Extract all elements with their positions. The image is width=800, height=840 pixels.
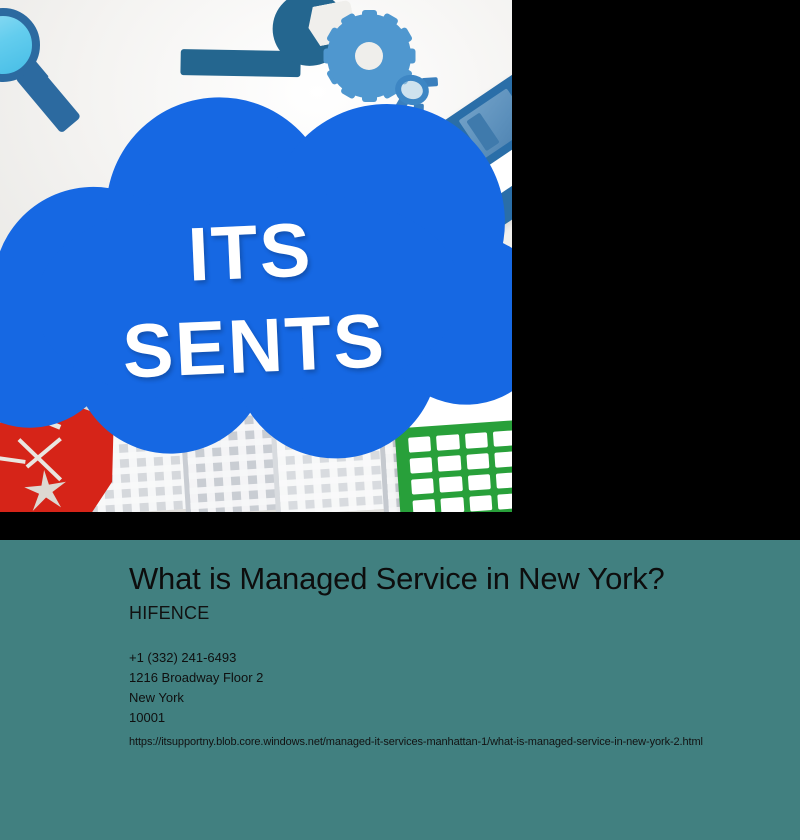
- contact-city: New York: [129, 688, 740, 708]
- page-root: ITS SENTS What is Managed Service in New…: [0, 0, 800, 840]
- calculator-key: [497, 493, 512, 510]
- calculator-key: [469, 495, 492, 512]
- contact-block: +1 (332) 241-6493 1216 Broadway Floor 2 …: [129, 648, 740, 728]
- calculator-key: [441, 497, 464, 512]
- media-letterbox-band: ITS SENTS: [0, 0, 800, 540]
- gear-hole: [355, 42, 383, 70]
- source-url[interactable]: https://itsupportny.blob.core.windows.ne…: [129, 735, 740, 749]
- cloud-shape: ITS SENTS: [0, 83, 512, 510]
- page-title: What is Managed Service in New York?: [129, 562, 740, 597]
- contact-phone[interactable]: +1 (332) 241-6493: [129, 648, 740, 668]
- brand-name: HIFENCE: [129, 603, 740, 624]
- contact-zip: 10001: [129, 708, 740, 728]
- calculator-key: [412, 499, 435, 512]
- info-panel: What is Managed Service in New York? HIF…: [0, 540, 800, 840]
- contact-street: 1216 Broadway Floor 2: [129, 668, 740, 688]
- hero-image: ITS SENTS: [0, 0, 512, 512]
